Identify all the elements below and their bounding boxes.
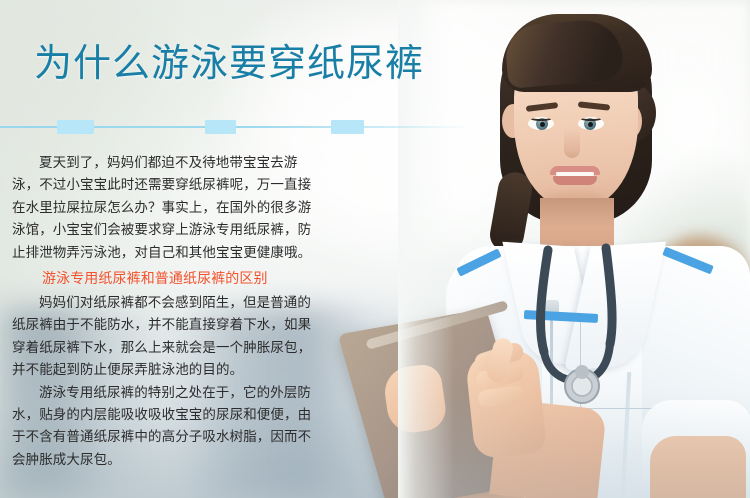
section-subheading: 游泳专用纸尿裤和普通纸尿裤的区别	[12, 267, 324, 291]
lower-lip	[553, 176, 597, 185]
paragraph-1: 夏天到了，妈妈们都迫不及待地带宝宝去游泳，不过小宝宝此时还需要穿纸尿裤呢，万一直…	[12, 152, 324, 264]
pupil-right	[588, 122, 593, 127]
neck-shadow	[540, 198, 614, 228]
paragraph-3: 游泳专用纸尿裤的特别之处在于，它的外层防水，贴身的内层能吸收吸收宝宝的尿尿和便便…	[12, 382, 324, 472]
body-copy: 夏天到了，妈妈们都迫不及待地带宝宝去游泳，不过小宝宝此时还需要穿纸尿裤呢，万一直…	[12, 152, 324, 471]
eye-right	[578, 117, 604, 130]
paragraph-2: 妈妈们对纸尿裤都不会感到陌生，但是普通的纸尿裤由于不能防水，并不能直接穿着下水，…	[12, 292, 324, 382]
nose	[564, 128, 580, 158]
divider-block-3	[331, 120, 364, 134]
decorative-divider	[0, 120, 470, 134]
eyelid-left	[528, 117, 554, 121]
arm-right	[650, 436, 746, 498]
mouth	[550, 166, 600, 184]
eye-left	[528, 117, 554, 130]
chest-pocket	[580, 316, 667, 409]
nurse-photo	[398, 0, 750, 498]
pupil-left	[540, 122, 545, 127]
promo-poster: 为什么游泳要穿纸尿裤 夏天到了，妈妈们都迫不及待地带宝宝去游泳，不过小宝宝此时还…	[0, 0, 750, 498]
divider-block-1	[57, 120, 94, 134]
divider-block-2	[205, 120, 236, 134]
page-title: 为什么游泳要穿纸尿裤	[34, 44, 424, 84]
eyelid-right	[578, 117, 604, 121]
